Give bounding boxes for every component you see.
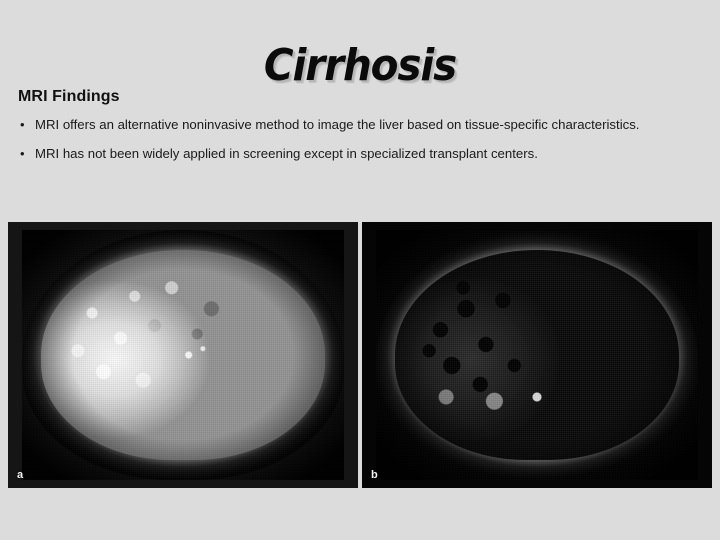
panel-label-a: a — [17, 469, 23, 481]
figure-row: a b — [8, 222, 712, 488]
bullet-icon: • — [20, 146, 25, 162]
liver-texture-b — [395, 250, 678, 460]
liver-texture-a — [41, 250, 324, 460]
section-heading: MRI Findings — [18, 88, 686, 106]
list-item: • MRI offers an alternative noninvasive … — [18, 117, 683, 133]
viscera-a — [41, 250, 324, 460]
list-item: • MRI has not been widely applied in scr… — [18, 146, 683, 162]
mri-scan-b — [376, 230, 698, 480]
bullet-list: • MRI offers an alternative noninvasive … — [18, 117, 686, 162]
bullet-icon: • — [20, 117, 25, 133]
mri-image-panel-b: b — [362, 222, 712, 488]
mri-scan-a — [22, 230, 344, 480]
list-item-text: MRI offers an alternative noninvasive me… — [35, 117, 639, 132]
content-block: MRI Findings • MRI offers an alternative… — [18, 88, 686, 162]
list-item-text: MRI has not been widely applied in scree… — [35, 146, 538, 161]
mri-image-panel-a: a — [8, 222, 358, 488]
slide-canvas: Cirrhosis MRI Findings • MRI offers an a… — [0, 0, 720, 540]
viscera-b — [395, 250, 678, 460]
panel-label-b: b — [371, 469, 378, 481]
page-title: Cirrhosis — [29, 43, 691, 89]
